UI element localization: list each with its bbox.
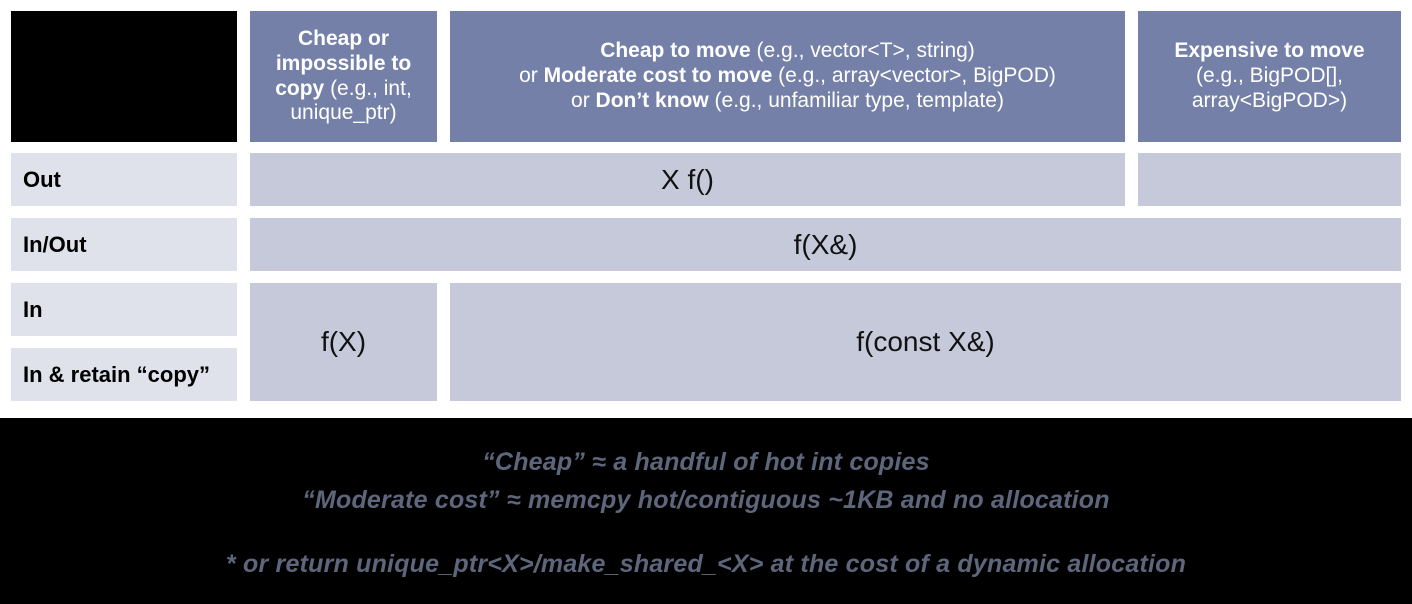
header-line-rest: (e.g., array<vector>, BigPOD) [772,64,1056,87]
header-line-strong: Don’t know [596,89,709,112]
value-in-rest-f-const-xref: f(const X&) [450,283,1401,401]
notes-band: “Cheap” ≈ a handful of hot int copies “M… [0,418,1412,604]
value-in-cheap-f-x: f(X) [250,283,437,401]
row-label-in-out: In/Out [11,218,237,271]
value-out-expensive-empty [1138,153,1401,206]
value-inout-f-xref: f(X&) [250,218,1401,271]
note-return-unique-ptr: * or return unique_ptr<X>/make_shared_<X… [0,550,1412,579]
header-line-strong: copy [275,77,324,100]
header-line-strong: Moderate cost to move [544,64,773,87]
header-line-rest: unique_ptr) [290,101,396,124]
header-line-rest: (e.g., unfamiliar type, template) [709,89,1004,112]
header-line-strong: impossible to [276,52,411,75]
row-label-in: In [11,283,237,336]
note-moderate-cost-definition: “Moderate cost” ≈ memcpy hot/contiguous … [0,486,1412,515]
header-expensive-to-move: Expensive to move (e.g., BigPOD[], array… [1138,11,1401,142]
header-line-prefix: or [519,64,544,87]
row-label-out: Out [11,153,237,206]
header-line-rest: array<BigPOD>) [1192,89,1347,112]
header-line-prefix: or [571,89,596,112]
note-cheap-definition: “Cheap” ≈ a handful of hot int copies [0,448,1412,477]
header-line-strong: Expensive to move [1174,39,1364,62]
value-out-x-f: X f() [250,153,1125,206]
row-label-in-retain-copy: In & retain “copy” [11,348,237,401]
header-line-rest: (e.g., int, [324,77,412,100]
header-line-strong: Cheap to move [600,39,751,62]
corner-block [11,11,237,142]
guidance-table-slide: Cheap or impossible to copy (e.g., int, … [0,0,1412,604]
header-cheap-moderate-dontknow-to-move: Cheap to move (e.g., vector<T>, string) … [450,11,1125,142]
header-cheap-or-impossible-to-copy: Cheap or impossible to copy (e.g., int, … [250,11,437,142]
header-line-rest: (e.g., BigPOD[], [1196,64,1343,87]
header-line-rest: (e.g., vector<T>, string) [751,39,975,62]
header-line-strong: Cheap or [298,27,389,50]
